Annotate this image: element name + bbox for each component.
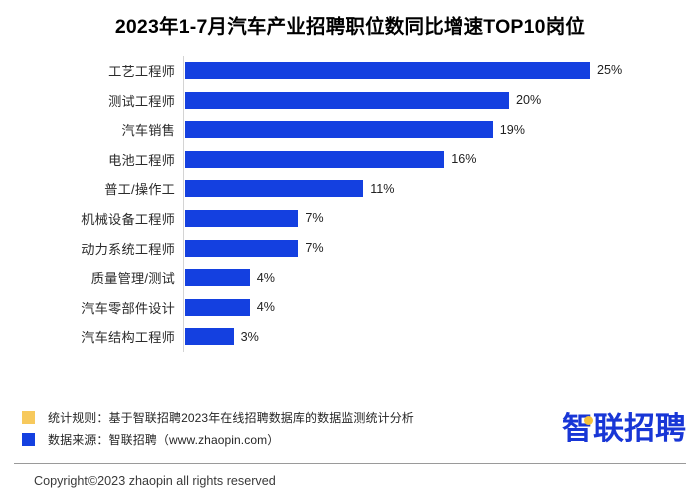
page-title: 2023年1-7月汽车产业招聘职位数同比增速TOP10岗位 [70,14,630,42]
bar-row: 汽车结构工程师3% [0,322,700,352]
footnote-text: 统计规则：基于智联招聘2023年在线招聘数据库的数据监测统计分析 [48,409,414,426]
bar-row: 动力系统工程师7% [0,233,700,263]
bar-zone: 11% [175,174,700,204]
bar-rows: 工艺工程师25%测试工程师20%汽车销售19%电池工程师16%普工/操作工11%… [0,56,700,352]
bar-row: 质量管理/测试4% [0,263,700,293]
zhaopin-logo: 智联招聘 [562,413,686,444]
legend-swatch-amber-icon [22,411,35,424]
bar-category-label: 汽车结构工程师 [0,327,175,346]
bar-value-label: 7% [305,241,323,255]
bar-value-label: 4% [257,271,275,285]
logo-text: 智联招聘 [562,411,686,446]
bar-zone: 4% [175,263,700,293]
bar [185,92,509,109]
bar [185,180,363,197]
copyright-text: Copyright©2023 zhaopin all rights reserv… [34,474,276,488]
footnote-row: 数据来源：智联招聘（www.zhaopin.com） [22,428,542,450]
bar-category-label: 普工/操作工 [0,179,175,198]
bar-category-label: 测试工程师 [0,91,175,110]
bar-zone: 7% [175,204,700,234]
bar-value-label: 7% [305,211,323,225]
bar-zone: 7% [175,233,700,263]
bar [185,328,234,345]
bar-value-label: 16% [451,152,476,166]
bar-chart: 工艺工程师25%测试工程师20%汽车销售19%电池工程师16%普工/操作工11%… [0,56,700,352]
bar-value-label: 3% [241,330,259,344]
bar [185,240,298,257]
footnote-row: 统计规则：基于智联招聘2023年在线招聘数据库的数据监测统计分析 [22,406,542,428]
bar-category-label: 动力系统工程师 [0,239,175,258]
bar-value-label: 4% [257,300,275,314]
bar-value-label: 11% [370,182,394,196]
bar [185,121,493,138]
bar-zone: 25% [175,56,700,86]
footnotes: 统计规则：基于智联招聘2023年在线招聘数据库的数据监测统计分析 数据来源：智联… [22,406,542,450]
bar-category-label: 电池工程师 [0,150,175,169]
bar-category-label: 汽车销售 [0,120,175,139]
bar-zone: 19% [175,115,700,145]
bar-category-label: 质量管理/测试 [0,268,175,287]
bar-zone: 20% [175,85,700,115]
bar-row: 电池工程师16% [0,144,700,174]
bar-row: 机械设备工程师7% [0,204,700,234]
bar-row: 普工/操作工11% [0,174,700,204]
footnote-text: 数据来源：智联招聘（www.zhaopin.com） [48,431,279,448]
bar [185,269,250,286]
bar-category-label: 汽车零部件设计 [0,298,175,317]
bar-row: 测试工程师20% [0,85,700,115]
bar [185,62,590,79]
bar-category-label: 机械设备工程师 [0,209,175,228]
bar [185,151,444,168]
bar-value-label: 20% [516,93,541,107]
legend-swatch-blue-icon [22,433,35,446]
bar-row: 汽车销售19% [0,115,700,145]
logo-dot-icon [584,416,593,425]
bar-value-label: 25% [597,63,622,77]
bar-zone: 4% [175,292,700,322]
footer-divider [14,463,686,464]
bar-row: 工艺工程师25% [0,56,700,86]
bar-zone: 16% [175,144,700,174]
bar-row: 汽车零部件设计4% [0,292,700,322]
bar-value-label: 19% [500,123,525,137]
bar-category-label: 工艺工程师 [0,61,175,80]
bar [185,299,250,316]
bar [185,210,298,227]
bar-zone: 3% [175,322,700,352]
